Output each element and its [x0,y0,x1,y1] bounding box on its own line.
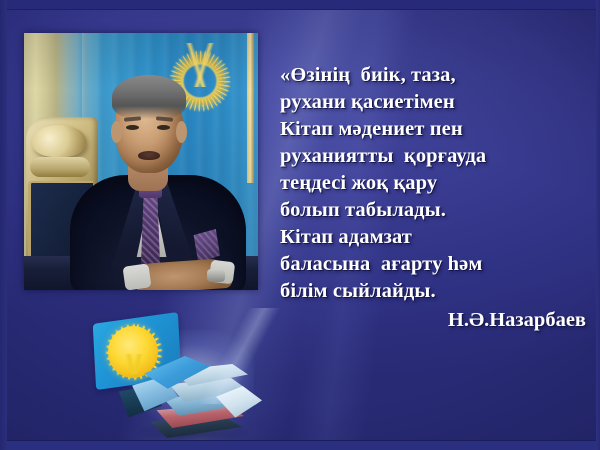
quote-line: Кітап мәдениет пен [280,116,590,143]
quote-line: білім сыйлайды. [280,278,590,305]
quote-line: баласына ағарту һәм [280,251,590,278]
books-illustration [88,312,260,440]
presentation-slide: «Өзінің биік, таза, рухани қасиетімен Кі… [0,0,600,450]
quote-line: болып табылады. [280,197,590,224]
quote-attribution: Н.Ә.Назарбаев [280,305,590,335]
quote-line: рухани қасиетімен [280,89,590,116]
quote-line: Кітап адамзат [280,224,590,251]
quote-line: руханиятты қорғауда [280,143,590,170]
slide-border-right [596,0,600,450]
quote-line: теңдесі жоқ қару [280,170,590,197]
quote-line: «Өзінің биік, таза, [280,62,590,89]
portrait-photo [24,33,258,290]
quote-block: «Өзінің биік, таза, рухани қасиетімен Кі… [280,62,590,335]
slide-border-top [0,0,600,10]
photo-shading-overlay [24,33,258,290]
slide-border-left [0,0,7,450]
slide-border-bottom [0,440,600,450]
